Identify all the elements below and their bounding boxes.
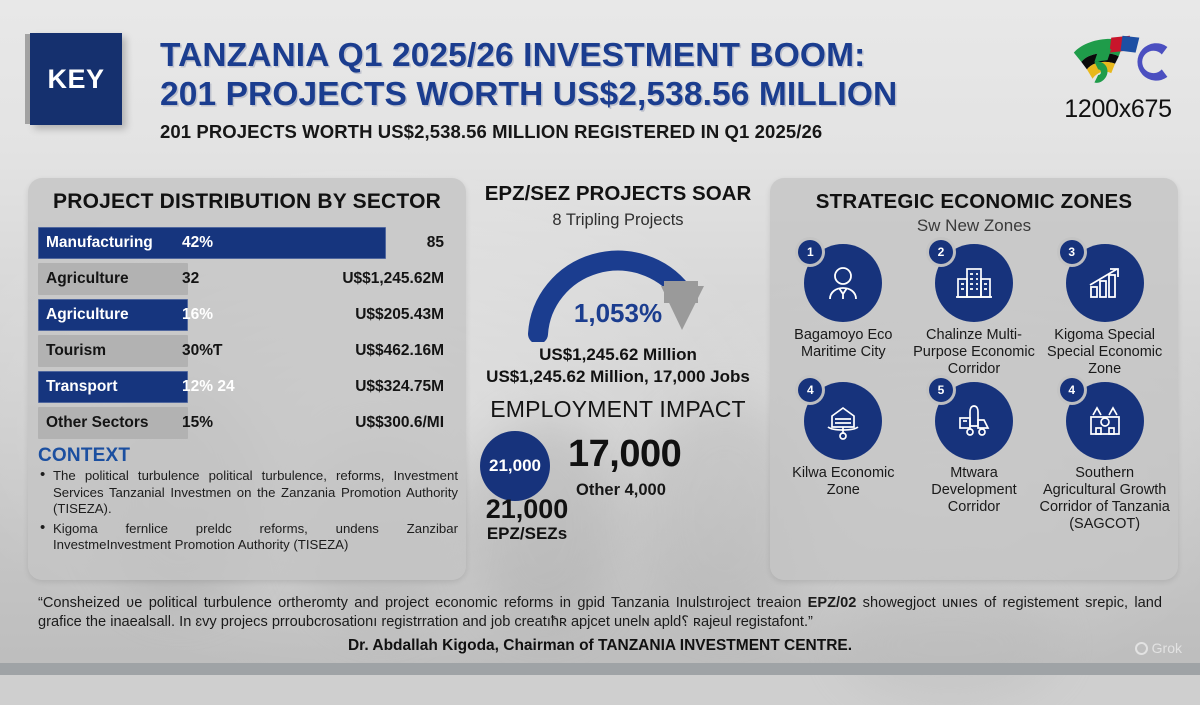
grok-watermark-label: Grok [1152, 640, 1182, 656]
context-section: CONTEXT The political turbulence politic… [38, 445, 458, 554]
epz-sez-section: EPZ/SEZ PROJECTS SOAR 8 Tripling Project… [466, 182, 770, 505]
sector-label: Other Sectors [34, 414, 182, 432]
context-title: CONTEXT [38, 445, 458, 467]
list-item: Kigoma fernlice preldc reforms, undens Z… [38, 521, 458, 554]
sector-amount: U$$1,245.62M [290, 270, 460, 288]
sector-label: Agriculture [34, 306, 182, 324]
sector-amount: U$$205.43M [290, 306, 460, 324]
sector-label: Agriculture [34, 270, 182, 288]
quote-bold-token: EPZ/02 [808, 595, 857, 611]
zone-number: 4 [1060, 378, 1084, 402]
sector-amount: U$$324.75M [290, 378, 460, 396]
sector-share: 30%Ƭ [182, 342, 290, 360]
employment-circle: 21,000 [480, 431, 550, 501]
zone-item[interactable]: 3 Kigoma Special Special Economic Zone [1039, 244, 1170, 378]
employment-epz-footnote: 21,000 EPZ/SEZs [472, 495, 582, 544]
key-badge-label: KEY [47, 64, 104, 95]
infographic-canvas: KEY TANZANIA Q1 2025/26 INVESTMENT BOOM:… [0, 0, 1200, 675]
table-row: Manufacturing 42% 85 [34, 225, 460, 261]
sector-share: 42% [182, 234, 290, 252]
zone-item[interactable]: 5 Mtwara Development Corridor [909, 382, 1040, 533]
zone-label: Mtwara Development Corridor [909, 465, 1040, 516]
sector-amount: U$$300.6/MI [290, 414, 460, 432]
zone-label: Bagamoyo Eco Maritime City [778, 327, 909, 361]
zone-label: Southern Agricultural Growth Corridor of… [1039, 465, 1170, 533]
zone-icon-wrap: 5 [935, 382, 1013, 460]
zone-icon-wrap: 1 [804, 244, 882, 322]
zone-item[interactable]: 4 Southern Agricultural Growth Corridor … [1039, 382, 1170, 533]
zone-number: 3 [1060, 240, 1084, 264]
zone-icon-wrap: 4 [804, 382, 882, 460]
employment-impact-stats: 21,000 17,000 Other 4,000 21,000 EPZ/SEZ… [466, 427, 770, 505]
epz-amounts: US$1,245.62 Million US$1,245.62 Million,… [466, 344, 770, 388]
table-row: Tourism 30%Ƭ U$$462.16M [34, 333, 460, 369]
list-item: The political turbulence political turbu… [38, 468, 458, 518]
table-row: Transport 12% 24 U$$324.75M [34, 369, 460, 405]
table-row: Agriculture 32 U$$1,245.62M [34, 261, 460, 297]
key-badge: KEY [30, 33, 122, 125]
employment-circle-value: 21,000 [489, 456, 541, 476]
employment-total-value: 17,000 [568, 433, 681, 476]
zone-label: Kigoma Special Special Economic Zone [1039, 327, 1170, 378]
zones-panel-subtitle: Sw New Zones [770, 216, 1178, 236]
logo: 1200x675 [1055, 32, 1181, 123]
table-row: Agriculture 16% U$$205.43M [34, 297, 460, 333]
zones-grid: 1 Bagamoyo Eco Maritime City [770, 244, 1178, 533]
zone-label: Kilwa Economic Zone [778, 465, 909, 499]
sector-distribution-panel: PROJECT DISTRIBUTION BY SECTOR Manufactu… [28, 178, 466, 580]
page-title: TANZANIA Q1 2025/26 INVESTMENT BOOM: 201… [160, 36, 1020, 143]
epz-panel-subtitle: 8 Tripling Projects [466, 211, 770, 230]
epz-panel-title: EPZ/SEZ PROJECTS SOAR [466, 182, 770, 206]
sector-amount: U$$462.16M [290, 342, 460, 360]
grok-ring-icon [1135, 642, 1148, 655]
quote-section: “Consheized ʋe political turbulence orth… [0, 588, 1200, 663]
zone-number: 5 [929, 378, 953, 402]
tic-logo-icon [1057, 32, 1179, 90]
zone-item[interactable]: 1 Bagamoyo Eco Maritime City [778, 244, 909, 378]
strategic-zones-panel: STRATEGIC ECONOMIC ZONES Sw New Zones 1 … [770, 178, 1178, 580]
employment-impact-title: EMPLOYMENT IMPACT [466, 396, 770, 423]
grok-watermark: Grok [1135, 640, 1182, 656]
quote-attribution: Dr. Abdallah Kigoda, Chairman of TANZANI… [0, 637, 1200, 655]
table-row: Other Sectors 15% U$$300.6/MI [34, 405, 460, 441]
zone-icon-wrap: 2 [935, 244, 1013, 322]
context-list: The political turbulence political turbu… [38, 468, 458, 554]
sector-share: 32 [182, 270, 290, 288]
epz-amount-line-1: US$1,245.62 Million [466, 344, 770, 366]
page-subtitle: 201 PROJECTS WORTH US$2,538.56 MILLION R… [160, 121, 1020, 143]
sector-label: Manufacturing [34, 234, 182, 252]
zone-icon-wrap: 3 [1066, 244, 1144, 322]
employment-other-value: Other 4,000 [576, 481, 666, 500]
quote-text: “Consheized ʋe political turbulence orth… [38, 594, 1162, 632]
zone-item[interactable]: 2 Chalinze Multi-Purpose Economic Corrid… [909, 244, 1040, 378]
sector-label: Transport [34, 378, 182, 396]
zone-label: Chalinze Multi-Purpose Economic Corridor [909, 327, 1040, 378]
zone-icon-wrap: 4 [1066, 382, 1144, 460]
quote-text-before: “Consheized ʋe political turbulence orth… [38, 595, 808, 611]
sector-label: Tourism [34, 342, 182, 360]
sector-amount: 85 [290, 234, 460, 252]
bottom-bar [0, 663, 1200, 675]
sector-panel-title: PROJECT DISTRIBUTION BY SECTOR [28, 190, 466, 214]
employment-foot-label: EPZ/SEZs [472, 524, 582, 544]
sector-share: 12% 24 [182, 378, 290, 396]
zone-number: 2 [929, 240, 953, 264]
growth-arc: 1,053% [466, 234, 770, 342]
zones-panel-title: STRATEGIC ECONOMIC ZONES [770, 190, 1178, 214]
page-title-line-1: TANZANIA Q1 2025/26 INVESTMENT BOOM: [160, 36, 1020, 75]
growth-percentage: 1,053% [466, 298, 770, 329]
sector-share: 16% [182, 306, 290, 324]
page-title-line-2: 201 PROJECTS WORTH US$2,538.56 MILLION [160, 75, 1020, 114]
epz-amount-line-2: US$1,245.62 Million, 17,000 Jobs [466, 366, 770, 388]
sector-table: Manufacturing 42% 85 Agriculture 32 U$$1… [34, 225, 460, 441]
zone-item[interactable]: 4 Kilwa Economic Zone [778, 382, 909, 533]
header: KEY TANZANIA Q1 2025/26 INVESTMENT BOOM:… [0, 0, 1200, 165]
logo-size-label: 1200x675 [1055, 95, 1181, 123]
employment-foot-number: 21,000 [472, 495, 582, 524]
sector-share: 15% [182, 414, 290, 432]
